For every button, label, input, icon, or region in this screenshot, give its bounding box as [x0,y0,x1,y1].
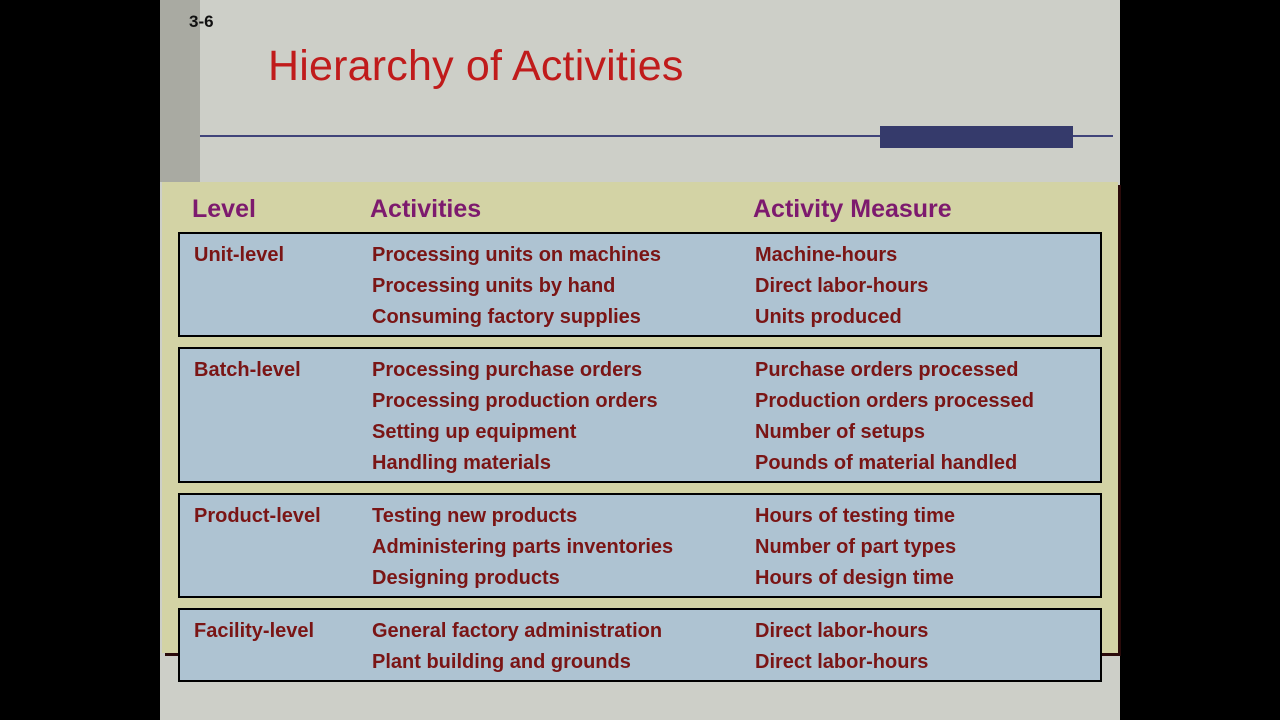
cell-activity-measure: Hours of testing time [755,501,1105,532]
activity-table: Level Activities Activity Measure Unit-l… [162,182,1118,653]
table-row: Plant building and groundsDirect labor-h… [180,647,1100,678]
cell-level: Product-level [194,501,359,532]
title-accent-bar [880,126,1073,148]
table-row: Consuming factory suppliesUnits produced [180,302,1100,333]
column-header-activity-measure: Activity Measure [753,194,1103,224]
activity-level-block: Batch-levelProcessing purchase ordersPur… [178,347,1102,483]
table-row: Facility-levelGeneral factory administra… [180,616,1100,647]
cell-activity: Processing purchase orders [372,355,747,386]
cell-activity-measure: Units produced [755,302,1105,333]
cell-activity-measure: Hours of design time [755,563,1105,594]
cell-level: Facility-level [194,616,359,647]
cell-activity-measure: Number of setups [755,417,1105,448]
slide-number: 3-6 [189,12,214,32]
cell-activity-measure: Purchase orders processed [755,355,1105,386]
cell-activity: Administering parts inventories [372,532,747,563]
cell-activity: Processing units by hand [372,271,747,302]
cell-activity: Processing units on machines [372,240,747,271]
presentation-slide: 3-6 Hierarchy of Activities Level Activi… [160,0,1120,720]
slide-title: Hierarchy of Activities [268,42,684,91]
table-row: Handling materialsPounds of material han… [180,448,1100,479]
table-row: Setting up equipmentNumber of setups [180,417,1100,448]
cell-level: Unit-level [194,240,359,271]
cell-activity-measure: Direct labor-hours [755,647,1105,678]
cell-activity-measure: Number of part types [755,532,1105,563]
activity-hierarchy-panel: Level Activities Activity Measure Unit-l… [162,182,1118,653]
cell-activity: Setting up equipment [372,417,747,448]
table-row: Designing productsHours of design time [180,563,1100,594]
cell-activity-measure: Direct labor-hours [755,616,1105,647]
cell-activity-measure: Machine-hours [755,240,1105,271]
cell-level: Batch-level [194,355,359,386]
cell-activity: Designing products [372,563,747,594]
cell-activity-measure: Direct labor-hours [755,271,1105,302]
activity-level-block: Product-levelTesting new productsHours o… [178,493,1102,598]
column-header-activities: Activities [370,194,745,224]
screenshot-stage: 3-6 Hierarchy of Activities Level Activi… [0,0,1280,720]
activity-level-block: Unit-levelProcessing units on machinesMa… [178,232,1102,337]
cell-activity: Consuming factory supplies [372,302,747,333]
cell-activity: General factory administration [372,616,747,647]
table-row: Product-levelTesting new productsHours o… [180,501,1100,532]
table-row: Processing production ordersProduction o… [180,386,1100,417]
cell-activity-measure: Production orders processed [755,386,1105,417]
cell-activity-measure: Pounds of material handled [755,448,1105,479]
cell-activity: Testing new products [372,501,747,532]
activity-level-block: Facility-levelGeneral factory administra… [178,608,1102,682]
cell-activity: Plant building and grounds [372,647,747,678]
table-row: Unit-levelProcessing units on machinesMa… [180,240,1100,271]
column-header-level: Level [192,194,357,224]
cell-activity: Processing production orders [372,386,747,417]
cell-activity: Handling materials [372,448,747,479]
table-row: Processing units by handDirect labor-hou… [180,271,1100,302]
table-header-row: Level Activities Activity Measure [162,194,1118,232]
table-row: Administering parts inventoriesNumber of… [180,532,1100,563]
table-row: Batch-levelProcessing purchase ordersPur… [180,355,1100,386]
